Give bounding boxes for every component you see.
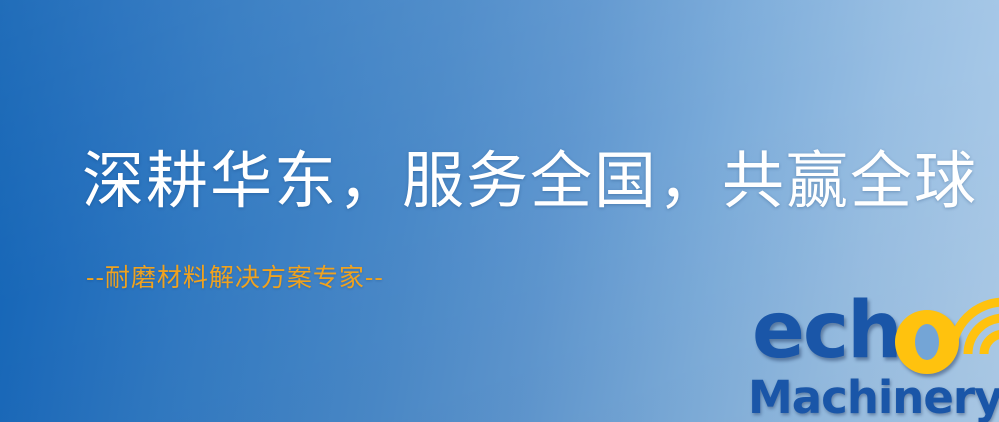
echo-machinery-logo: ech Machinery® xyxy=(742,296,999,422)
logo-o-counter xyxy=(915,324,939,360)
logo-wordmark-row: ech xyxy=(742,296,999,374)
banner-headline: 深耕华东，服务全国，共赢全球 xyxy=(82,148,978,213)
logo-subword-text: Machinery xyxy=(748,371,999,422)
banner-subtitle: --耐磨材料解决方案专家-- xyxy=(86,264,384,292)
hero-banner: 深耕华东，服务全国，共赢全球 --耐磨材料解决方案专家-- ech Machin… xyxy=(0,0,999,422)
logo-wordmark-echo: ech xyxy=(752,292,901,370)
logo-subword-machinery: Machinery® xyxy=(748,368,999,420)
logo-signal-arcs-icon xyxy=(938,288,999,358)
